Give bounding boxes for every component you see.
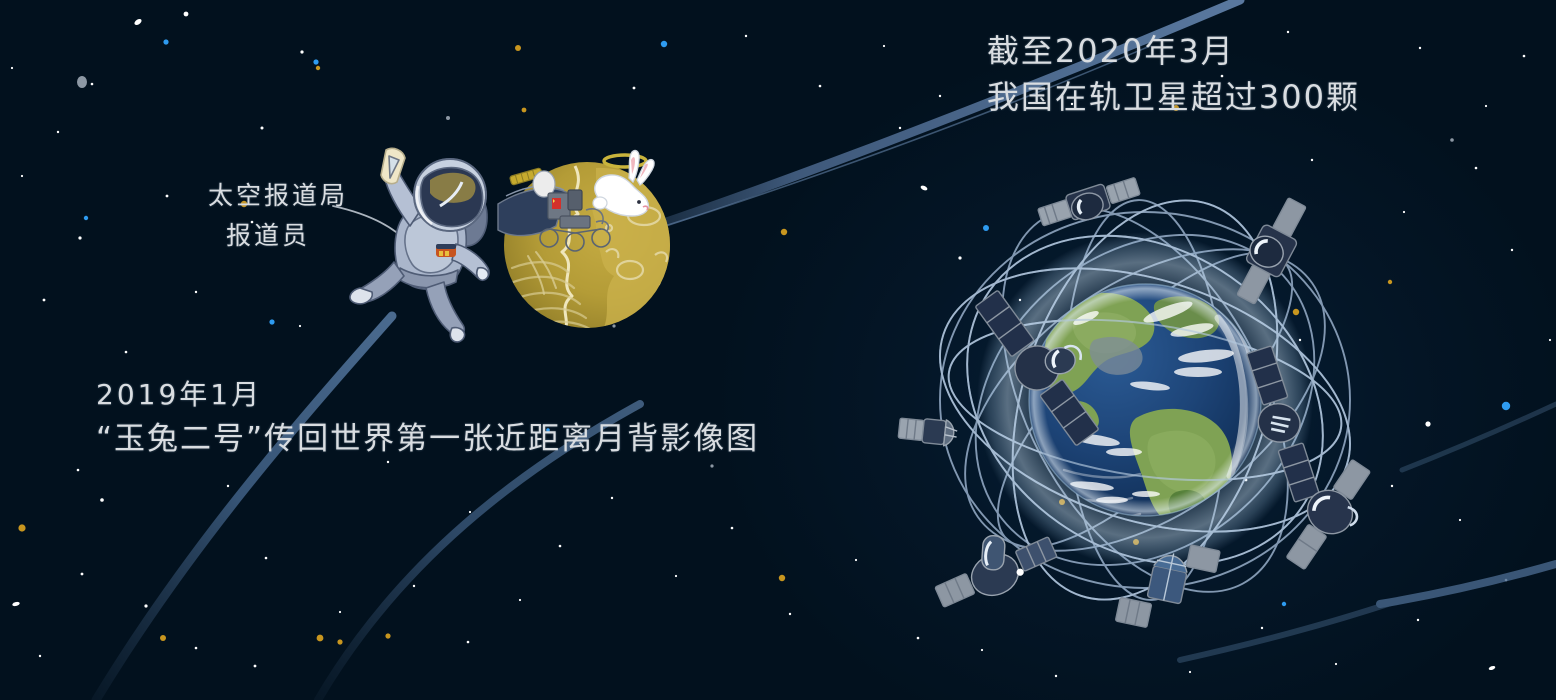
caption-top-right: 截至2020年3月 我国在轨卫星超过300颗 (987, 28, 1360, 120)
reporter-label-line2: 报道员 (226, 216, 348, 256)
reporter-label-line1: 太空报道局 (208, 176, 348, 216)
caption-top-right-line2: 我国在轨卫星超过300颗 (987, 74, 1360, 120)
caption-reporter-label: 太空报道局 报道员 (208, 176, 348, 256)
caption-bottom-left-line1: 2019年1月 (96, 374, 759, 416)
space-illustration: 截至2020年3月 我国在轨卫星超过300颗 2019年1月 “玉兔二号”传回世… (0, 0, 1556, 700)
caption-top-right-line1: 截至2020年3月 (987, 28, 1360, 74)
astronaut (350, 148, 489, 342)
caption-bottom-left: 2019年1月 “玉兔二号”传回世界第一张近距离月背影像图 (96, 374, 759, 462)
caption-bottom-left-line2: “玉兔二号”传回世界第一张近距离月背影像图 (96, 416, 759, 462)
